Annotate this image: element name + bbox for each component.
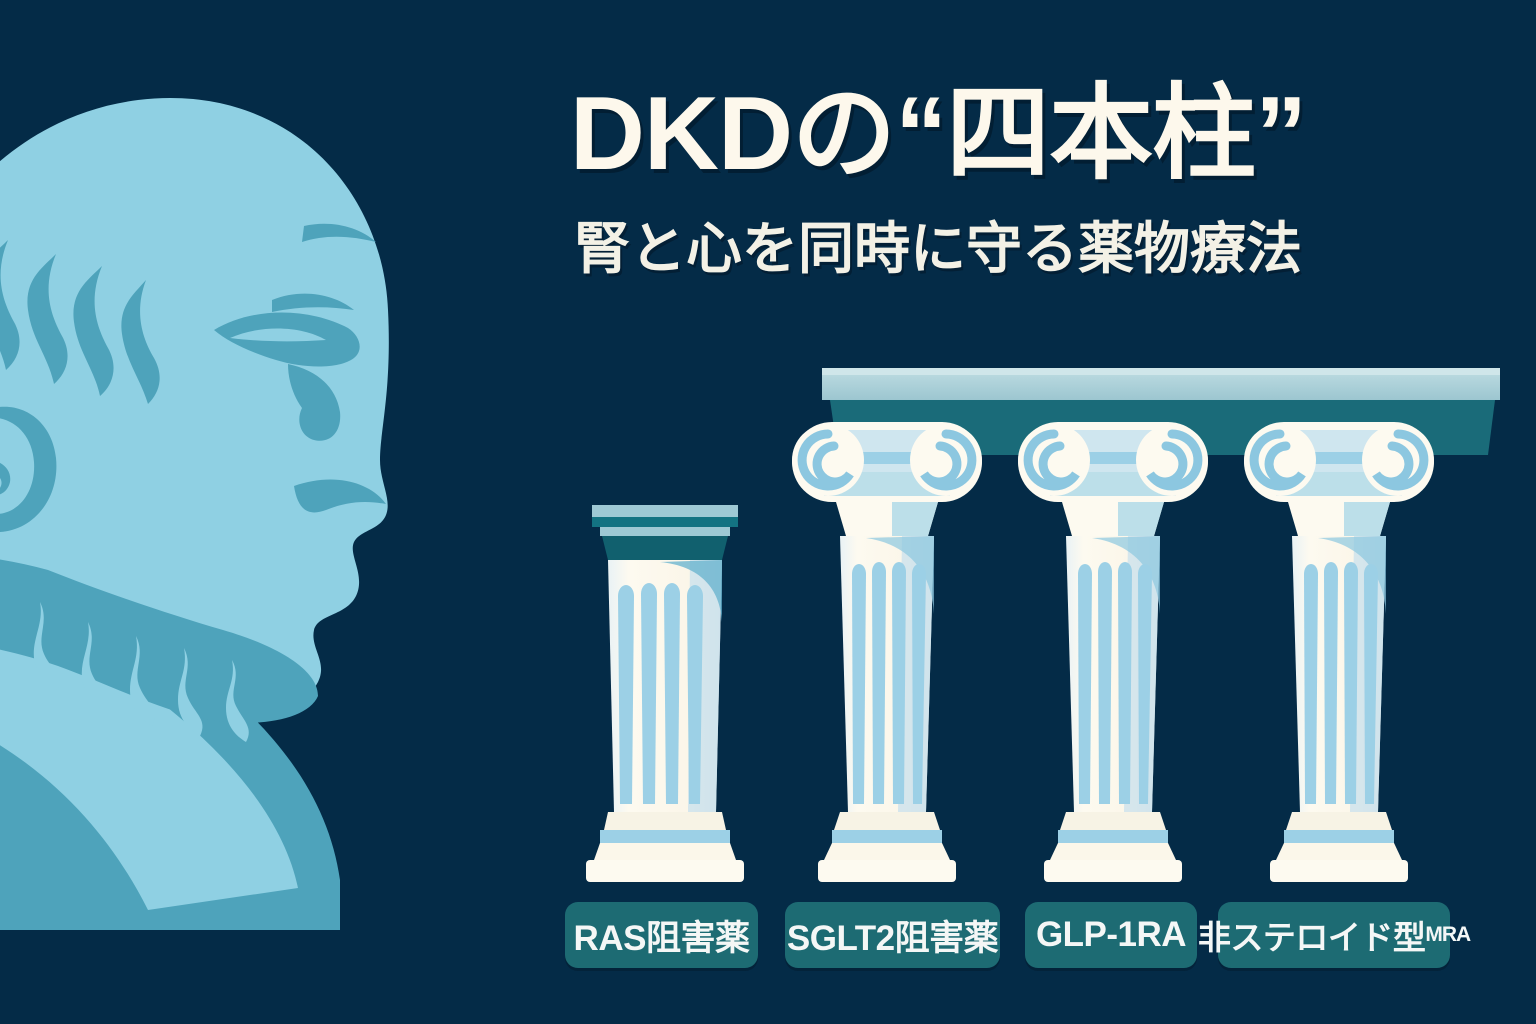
pillar-3-base-band: [1058, 830, 1168, 843]
badge-nsmra-label: 非ステロイド型: [1198, 911, 1426, 959]
greek-temple-illustration: [540, 360, 1500, 920]
pillar-4-base-torus: [1286, 812, 1392, 830]
pillar-1-abacus-fillet: [600, 527, 730, 536]
entablature-slab-highlight: [822, 368, 1500, 375]
headline-block: DKDの“四本柱” 腎と心を同時に守る薬物療法: [498, 78, 1378, 285]
pillar-2-capital: [792, 422, 982, 536]
pillar-3-base-step: [1050, 843, 1176, 860]
poster-canvas: DKDの“四本柱” 腎と心を同時に守る薬物療法: [0, 0, 1536, 1024]
pillar-4-base-step: [1276, 843, 1402, 860]
pillar-4-base-band: [1284, 830, 1394, 843]
pillar-2-base-step: [824, 843, 950, 860]
pillar-3-plinth: [1044, 860, 1182, 882]
pillar-4-plinth: [1270, 860, 1408, 882]
philosopher-bust-illustration: [0, 30, 458, 930]
badge-sglt2[interactable]: SGLT2阻害薬: [785, 902, 1000, 968]
pillar-2-plinth: [818, 860, 956, 882]
pillar-4: [1244, 422, 1434, 882]
pillar-2-base-band: [832, 830, 942, 843]
badge-ras[interactable]: RAS阻害薬: [565, 902, 758, 968]
page-subtitle: 腎と心を同時に守る薬物療法: [498, 204, 1378, 285]
pillar-1-abacus-top: [592, 505, 738, 517]
pillar-1-base-band: [600, 830, 730, 843]
badge-glp1ra-label: GLP-1RA: [1036, 915, 1186, 955]
badge-ras-label: RAS阻害薬: [574, 910, 750, 961]
pillar-1-plinth: [586, 860, 744, 882]
badge-nsmra-superscript: MRA: [1425, 923, 1470, 947]
page-title: DKDの“四本柱”: [498, 78, 1378, 190]
pillar-1-base-step: [594, 843, 736, 860]
pillar-2-base-torus: [834, 812, 940, 830]
pillar-3-base-torus: [1060, 812, 1166, 830]
pillar-1-base-torus: [604, 812, 726, 830]
pillar-1-abacus-band: [592, 517, 738, 527]
pillar-4-capital: [1244, 422, 1434, 536]
drug-class-badge-row: RAS阻害薬 SGLT2阻害薬 GLP-1RA 非ステロイド型MRA: [540, 902, 1500, 974]
pillar-3-capital: [1018, 422, 1208, 536]
pillar-2: [792, 422, 982, 882]
badge-sglt2-label: SGLT2阻害薬: [787, 910, 998, 961]
badge-nsmra[interactable]: 非ステロイド型MRA: [1218, 902, 1450, 968]
pillar-3: [1018, 422, 1208, 882]
badge-glp1ra[interactable]: GLP-1RA: [1025, 902, 1197, 968]
pillar-1: [586, 505, 744, 882]
